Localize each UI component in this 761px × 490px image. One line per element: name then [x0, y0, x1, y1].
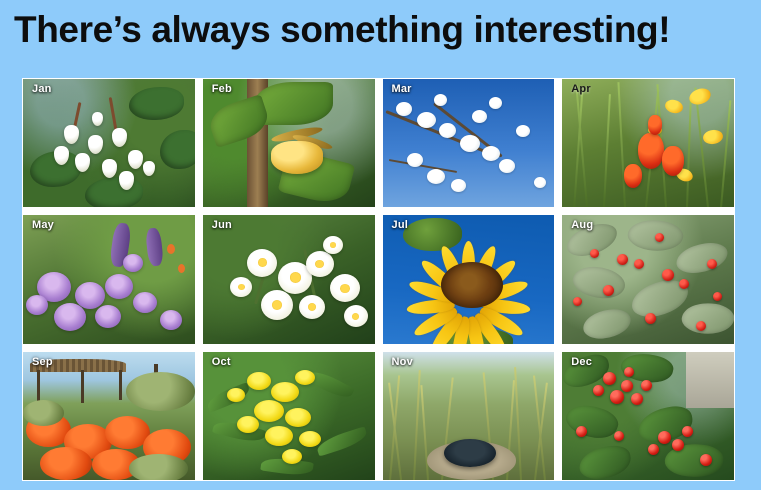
photo-aug — [562, 215, 734, 343]
month-label-dec: Dec — [571, 356, 592, 368]
slide-canvas: There’s always something interesting! — [0, 0, 761, 490]
gallery-cell-dec[interactable]: Dec — [561, 351, 735, 481]
gallery-cell-jul[interactable]: Jul — [382, 214, 556, 344]
photo-feb — [203, 79, 375, 207]
gallery-cell-feb[interactable]: Feb — [202, 78, 376, 208]
gallery-cell-nov[interactable]: Nov — [382, 351, 556, 481]
photo-oct — [203, 352, 375, 480]
photo-apr — [562, 79, 734, 207]
gallery-cell-sep[interactable]: Sep — [22, 351, 196, 481]
month-label-aug: Aug — [571, 219, 593, 231]
page-title: There’s always something interesting! — [14, 2, 754, 58]
gallery-cell-mar[interactable]: Mar — [382, 78, 556, 208]
month-label-jun: Jun — [212, 219, 232, 231]
month-label-jul: Jul — [392, 219, 409, 231]
month-label-feb: Feb — [212, 83, 232, 95]
month-label-may: May — [32, 219, 54, 231]
photo-jul — [383, 215, 555, 343]
photo-may — [23, 215, 195, 343]
photo-jan — [23, 79, 195, 207]
photo-jun — [203, 215, 375, 343]
month-label-jan: Jan — [32, 83, 52, 95]
month-label-oct: Oct — [212, 356, 231, 368]
photo-gallery-grid: Jan Feb — [22, 78, 735, 481]
gallery-cell-oct[interactable]: Oct — [202, 351, 376, 481]
photo-nov — [383, 352, 555, 480]
gallery-cell-apr[interactable]: Apr — [561, 78, 735, 208]
month-label-nov: Nov — [392, 356, 413, 368]
gallery-cell-jan[interactable]: Jan — [22, 78, 196, 208]
month-label-mar: Mar — [392, 83, 412, 95]
month-label-apr: Apr — [571, 83, 591, 95]
gallery-cell-may[interactable]: May — [22, 214, 196, 344]
gallery-cell-aug[interactable]: Aug — [561, 214, 735, 344]
gallery-cell-jun[interactable]: Jun — [202, 214, 376, 344]
photo-sep — [23, 352, 195, 480]
photo-mar — [383, 79, 555, 207]
month-label-sep: Sep — [32, 356, 53, 368]
photo-dec — [562, 352, 734, 480]
